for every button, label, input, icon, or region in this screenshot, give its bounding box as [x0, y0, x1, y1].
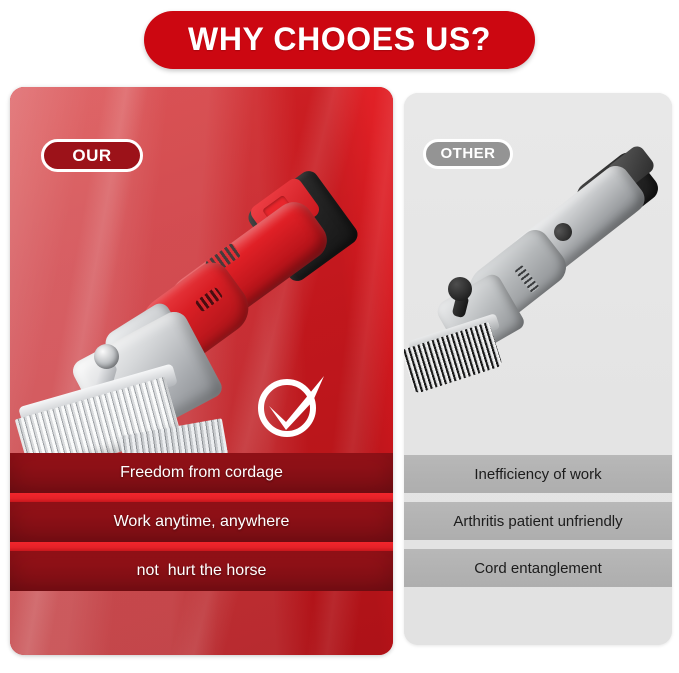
- check-circle-icon: [255, 370, 329, 442]
- feature-list-our: Freedom from cordage Work anytime, anywh…: [10, 453, 393, 591]
- comparison-panels: OUR Freedom from corda: [0, 82, 679, 667]
- header: WHY CHOOES US?: [0, 8, 679, 72]
- panel-our: OUR Freedom from corda: [10, 87, 393, 655]
- feature-row: Freedom from cordage: [10, 453, 393, 493]
- feature-list-other: Inefficiency of work Arthritis patient u…: [404, 455, 672, 587]
- feature-label: Work anytime, anywhere: [114, 512, 290, 532]
- feature-row: Cord entanglement: [404, 549, 672, 587]
- panel-other: OTHER Inefficiency of work: [404, 93, 672, 645]
- feature-label: Arthritis patient unfriendly: [453, 512, 622, 531]
- feature-label: Freedom from cordage: [120, 463, 283, 483]
- feature-label: Cord entanglement: [474, 559, 602, 578]
- feature-row: not hurt the horse: [10, 551, 393, 591]
- feature-row: Work anytime, anywhere: [10, 502, 393, 542]
- product-image-other: [404, 129, 672, 429]
- feature-row: Arthritis patient unfriendly: [404, 502, 672, 540]
- tension-knob: [94, 344, 119, 369]
- feature-label: Inefficiency of work: [474, 465, 601, 484]
- product-image-our: [10, 135, 393, 465]
- feature-row: Inefficiency of work: [404, 455, 672, 493]
- comb-blade: [404, 322, 503, 394]
- title-badge: WHY CHOOES US?: [144, 11, 535, 69]
- page-title: WHY CHOOES US?: [188, 20, 491, 58]
- tension-knob: [448, 277, 472, 301]
- feature-label: not hurt the horse: [137, 561, 267, 581]
